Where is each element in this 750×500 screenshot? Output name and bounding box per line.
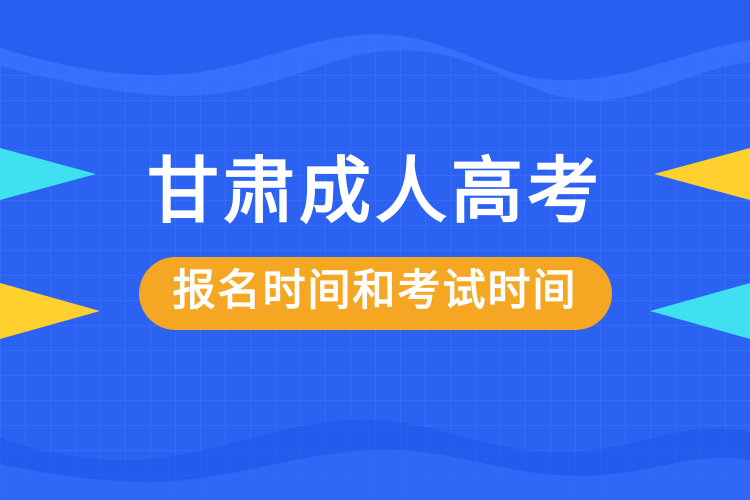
banner-image: 甘肃成人高考 报名时间和考试时间 [0, 0, 750, 500]
banner-content: 甘肃成人高考 报名时间和考试时间 [0, 0, 750, 500]
headline-text: 甘肃成人高考 [147, 155, 603, 227]
subtitle-pill: 报名时间和考试时间 [139, 257, 612, 330]
